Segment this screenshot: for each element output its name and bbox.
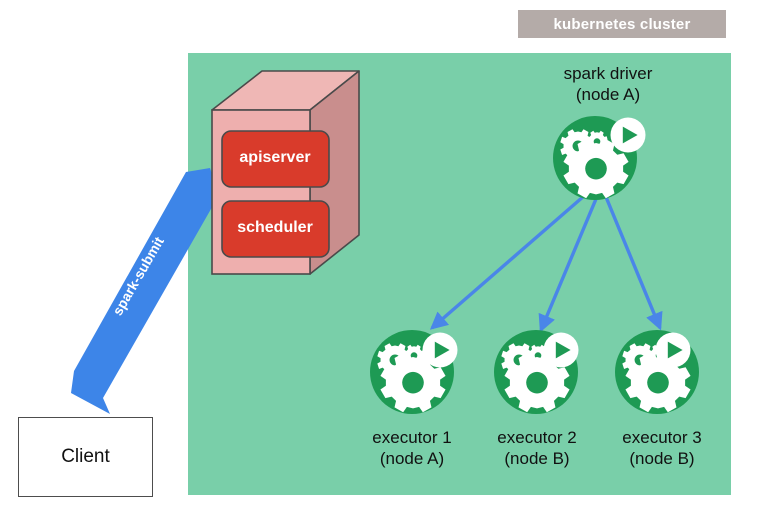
play-icon [656,333,691,368]
play-icon [544,333,579,368]
executor-3-node[interactable] [615,330,699,414]
spark-driver-name: spark driver [528,64,688,85]
executor-3-label: executor 3 (node B) [587,428,737,469]
apiserver-label: apiserver [219,149,331,167]
executor-2-node[interactable] [494,330,579,414]
play-icon [611,118,646,153]
executor-3-name: executor 3 [587,428,737,449]
executor-1-node[interactable] [370,330,458,414]
driver-executor-connectors [432,196,660,330]
spark-submit-label: spark-submit [99,216,178,337]
scheduler-label: scheduler [219,219,331,237]
executor-3-node-id: (node B) [587,449,737,470]
spark-driver-node-id: (node A) [528,85,688,106]
spark-submit-arrow-group: spark-submit [55,160,220,410]
connector-driver-executor-3 [606,197,660,328]
client-label: Client [61,446,110,468]
spark-driver-node[interactable] [553,116,646,200]
spark-driver-label: spark driver (node A) [528,64,688,105]
connector-driver-executor-2 [541,199,596,330]
play-icon [423,333,458,368]
client-box[interactable]: Client [18,417,153,497]
control-plane-cube [212,71,359,274]
connector-driver-executor-1 [432,196,584,328]
